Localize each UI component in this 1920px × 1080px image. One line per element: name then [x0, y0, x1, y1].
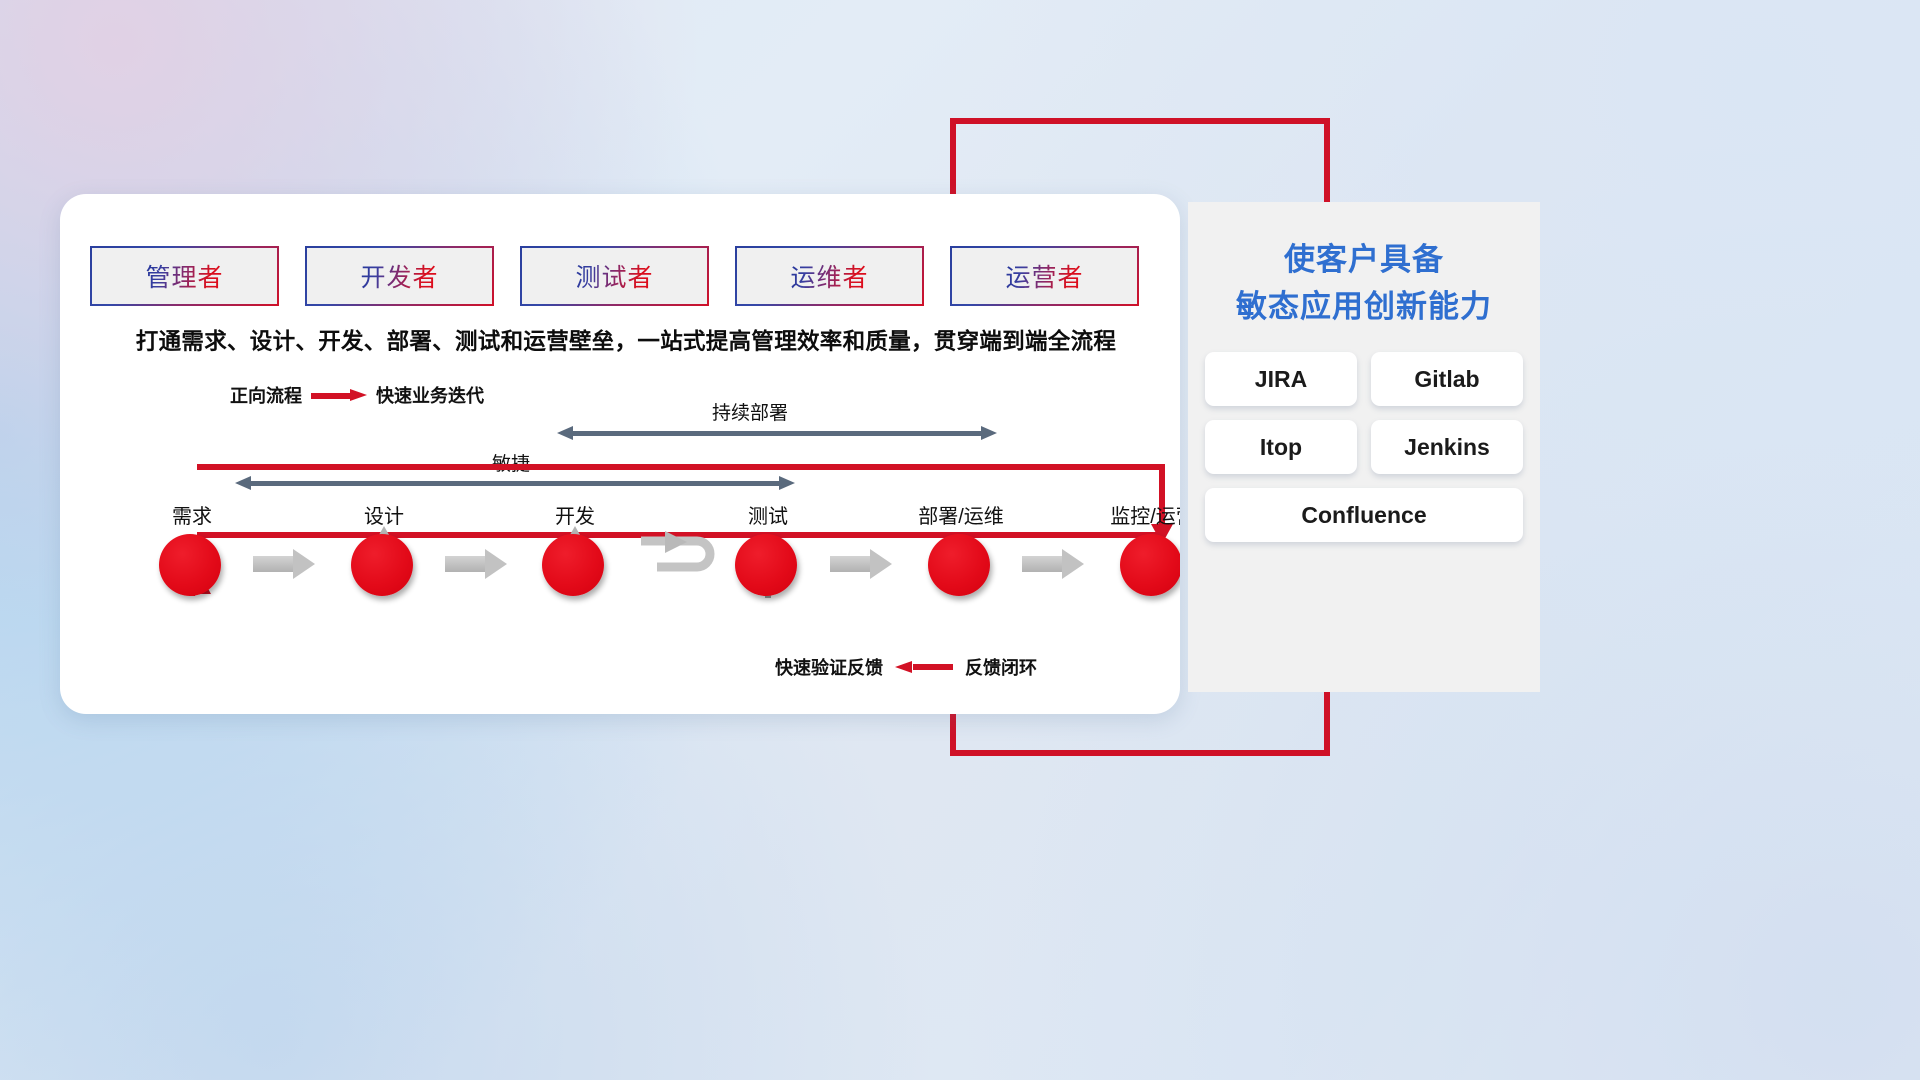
- pipeline-node-dot: [351, 534, 413, 596]
- legend-feedback-right-label: 反馈闭环: [965, 654, 1037, 680]
- pipeline-node-dot: [159, 534, 221, 596]
- chevron-arrow-3-icon: [830, 549, 892, 579]
- slide-canvas: 管理者 开发者 测试者 运维者 运营者 打通需求、设计、开发、部署、测试和运营壁…: [0, 0, 1920, 1080]
- pipeline-node-label: 监控/运营: [1110, 500, 1180, 529]
- pipeline-node-deploy-ops[interactable]: 部署/运维: [928, 534, 994, 596]
- outer-bracket-top: [950, 118, 1330, 124]
- tool-badge-jira[interactable]: JIRA: [1205, 352, 1357, 406]
- pipeline-node-dot: [542, 534, 604, 596]
- pipeline-node-label: 开发: [555, 500, 595, 529]
- tool-badge-list: JIRA Gitlab Itop Jenkins Confluence: [1202, 352, 1526, 542]
- tool-badge-gitlab[interactable]: Gitlab: [1371, 352, 1523, 406]
- chevron-arrow-4-icon: [1022, 549, 1084, 579]
- panel-title: 使客户具备 敏态应用创新能力: [1188, 236, 1540, 330]
- tools-panel: 使客户具备 敏态应用创新能力 JIRA Gitlab Itop Jenkins …: [1188, 202, 1540, 692]
- pipeline-node-monitor-operate[interactable]: 监控/运营: [1120, 534, 1180, 596]
- iteration-loop-arrow-icon: [635, 531, 721, 577]
- pipeline-node-label: 需求: [172, 500, 212, 529]
- pipeline-node-label: 部署/运维: [918, 500, 1004, 529]
- panel-title-line-2: 敏态应用创新能力: [1188, 283, 1540, 330]
- tool-badge-confluence[interactable]: Confluence: [1205, 488, 1523, 542]
- pipeline-node-test[interactable]: 测试: [735, 534, 801, 596]
- pipeline-node-requirement[interactable]: 需求: [159, 534, 225, 596]
- pipeline-node-dot: [735, 534, 797, 596]
- pipeline: 需求 设计 开发: [60, 194, 1180, 714]
- pipeline-node-dot: [1120, 534, 1180, 596]
- chevron-arrow-1-icon: [253, 549, 315, 579]
- tool-badge-jenkins[interactable]: Jenkins: [1371, 420, 1523, 474]
- pipeline-node-dot: [928, 534, 990, 596]
- chevron-arrow-2-icon: [445, 549, 507, 579]
- pipeline-node-design[interactable]: 设计: [351, 534, 417, 596]
- legend-feedback-left-label: 快速验证反馈: [775, 654, 883, 680]
- pipeline-node-label: 设计: [364, 500, 404, 529]
- legend-feedback-loop: 快速验证反馈 反馈闭环: [775, 654, 1037, 680]
- tool-badge-itop[interactable]: Itop: [1205, 420, 1357, 474]
- outer-bracket-bottom: [950, 750, 1330, 756]
- panel-title-line-1: 使客户具备: [1188, 236, 1540, 283]
- pipeline-node-label: 测试: [748, 500, 788, 529]
- main-card: 管理者 开发者 测试者 运维者 运营者 打通需求、设计、开发、部署、测试和运营壁…: [60, 194, 1180, 714]
- pipeline-node-develop[interactable]: 开发: [542, 534, 608, 596]
- arrow-left-red-icon: [895, 661, 953, 674]
